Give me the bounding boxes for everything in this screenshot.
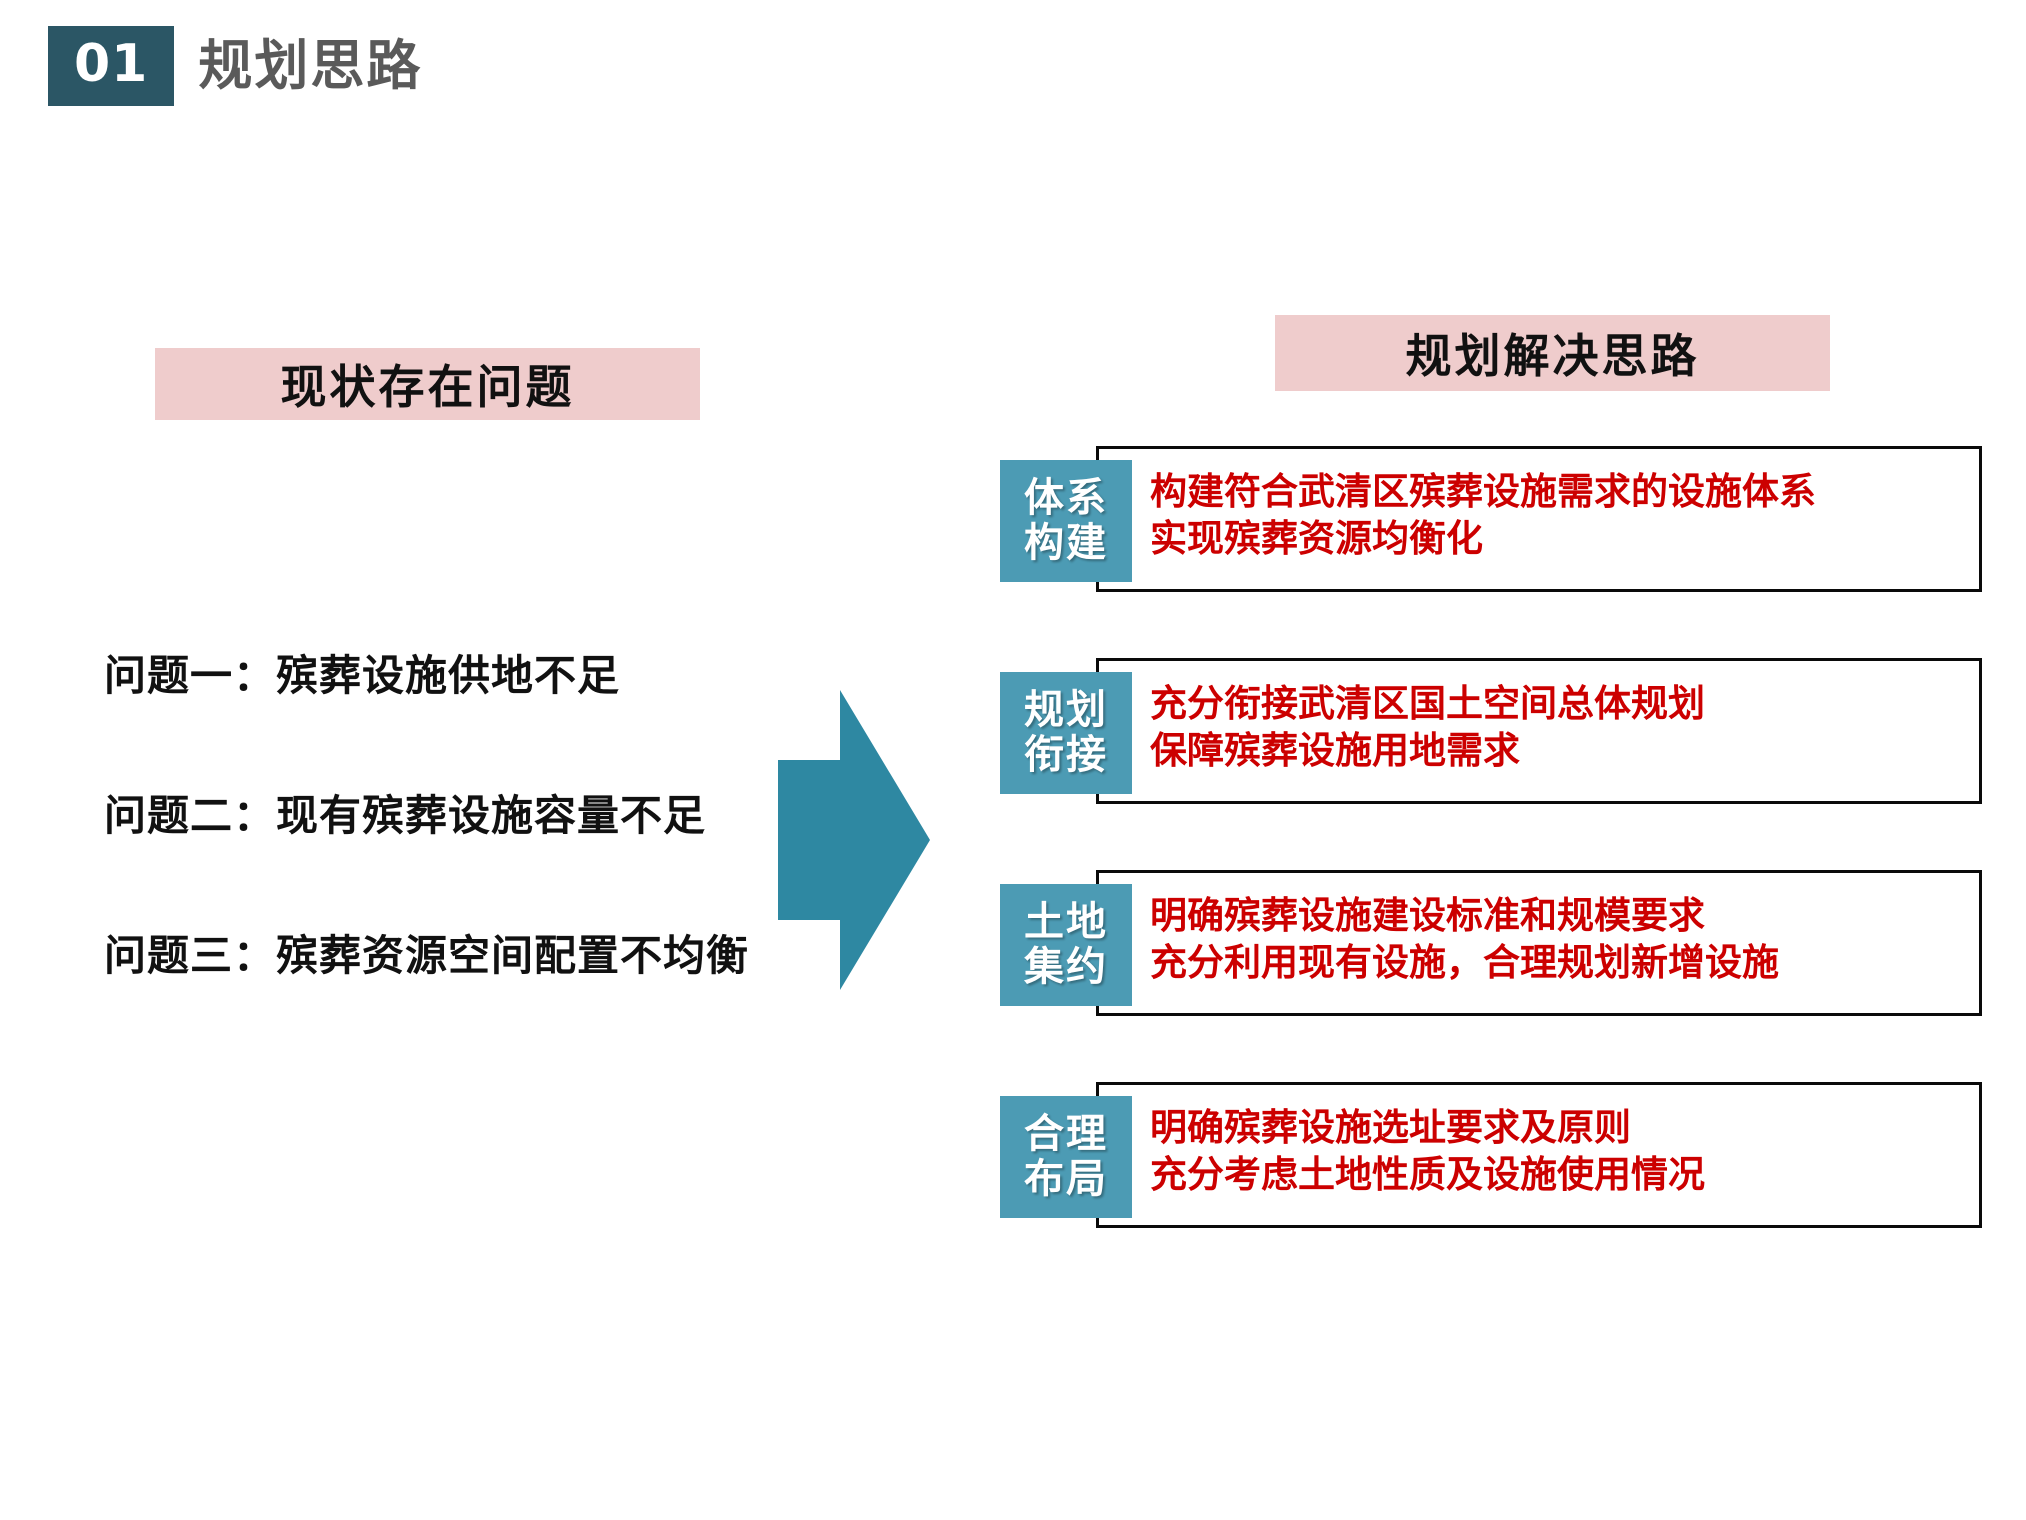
solution-tag-line2: 布局: [1024, 1157, 1108, 1202]
solution-tag-line1: 体系: [1024, 476, 1108, 521]
solution-tag: 规划 衔接: [1000, 672, 1132, 794]
solution-tag: 合理 布局: [1000, 1096, 1132, 1218]
solution-text: 明确殡葬设施选址要求及原则 充分考虑土地性质及设施使用情况: [1150, 1104, 1705, 1199]
solution-tag: 土地 集约: [1000, 884, 1132, 1006]
solution-tag-line1: 规划: [1024, 688, 1108, 733]
solution-text-line1: 明确殡葬设施选址要求及原则: [1150, 1104, 1705, 1151]
solution-row: 合理 布局 明确殡葬设施选址要求及原则 充分考虑土地性质及设施使用情况: [1000, 1076, 2000, 1234]
solution-tag-line1: 合理: [1024, 1112, 1108, 1157]
solution-text-line1: 明确殡葬设施建设标准和规模要求: [1150, 892, 1779, 939]
solution-list: 体系 构建 构建符合武清区殡葬设施需求的设施体系 实现殡葬资源均衡化 规划 衔接…: [1000, 440, 2000, 1234]
problem-label: 问题三：: [104, 931, 276, 980]
solution-row: 规划 衔接 充分衔接武清区国土空间总体规划 保障殡葬设施用地需求: [1000, 652, 2000, 810]
solution-tag-line2: 集约: [1024, 945, 1108, 990]
solution-tag-line2: 衔接: [1024, 733, 1108, 778]
problem-label: 问题一：: [104, 651, 276, 700]
problem-text: 现有殡葬设施容量不足: [276, 791, 706, 840]
problem-text: 殡葬资源空间配置不均衡: [276, 931, 749, 980]
solution-text-line2: 实现殡葬资源均衡化: [1150, 515, 1816, 562]
page-title: 规划思路: [198, 39, 422, 93]
right-arrow-icon: [778, 690, 930, 990]
problem-text: 殡葬设施供地不足: [276, 651, 620, 700]
solution-text-line2: 充分利用现有设施，合理规划新增设施: [1150, 939, 1779, 986]
solution-text: 充分衔接武清区国土空间总体规划 保障殡葬设施用地需求: [1150, 680, 1705, 775]
section-number-badge: 01: [48, 26, 174, 106]
solution-tag-line2: 构建: [1024, 521, 1108, 566]
banner-current-problems: 现状存在问题: [155, 348, 700, 420]
solution-text: 明确殡葬设施建设标准和规模要求 充分利用现有设施，合理规划新增设施: [1150, 892, 1779, 987]
solution-text: 构建符合武清区殡葬设施需求的设施体系 实现殡葬资源均衡化: [1150, 468, 1816, 563]
banner-planning-solutions: 规划解决思路: [1275, 315, 1830, 391]
solution-text-line1: 充分衔接武清区国土空间总体规划: [1150, 680, 1705, 727]
solution-row: 体系 构建 构建符合武清区殡葬设施需求的设施体系 实现殡葬资源均衡化: [1000, 440, 2000, 598]
slide-header: 01 规划思路: [48, 26, 422, 106]
solution-text-line1: 构建符合武清区殡葬设施需求的设施体系: [1150, 468, 1816, 515]
slide-canvas: 01 规划思路 现状存在问题 规划解决思路 问题一：殡葬设施供地不足 问题二：现…: [0, 0, 2026, 1520]
solution-tag-line1: 土地: [1024, 900, 1108, 945]
solution-tag: 体系 构建: [1000, 460, 1132, 582]
solution-text-line2: 保障殡葬设施用地需求: [1150, 727, 1705, 774]
problem-label: 问题二：: [104, 791, 276, 840]
solution-row: 土地 集约 明确殡葬设施建设标准和规模要求 充分利用现有设施，合理规划新增设施: [1000, 864, 2000, 1022]
solution-text-line2: 充分考虑土地性质及设施使用情况: [1150, 1151, 1705, 1198]
